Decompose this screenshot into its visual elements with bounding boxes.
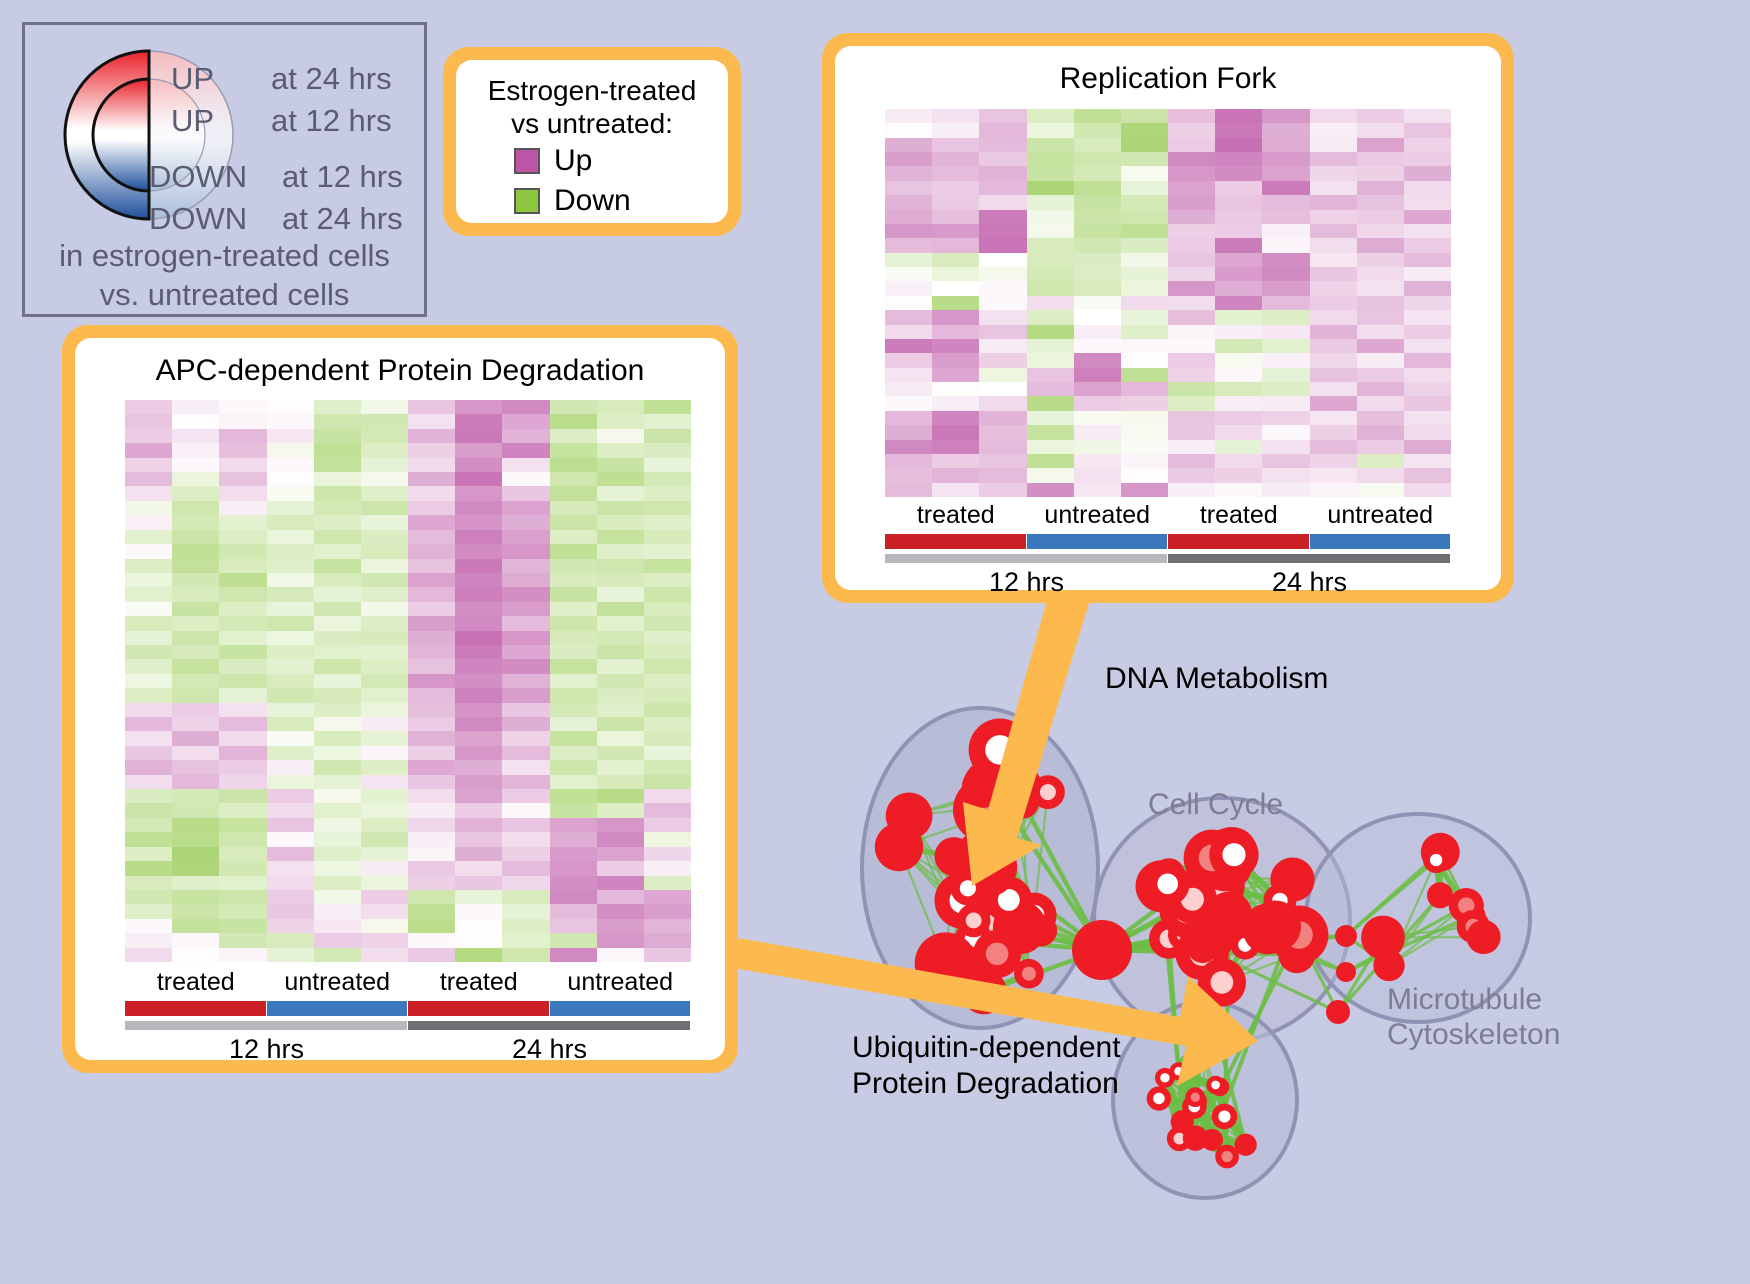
heatmap-cell xyxy=(1404,281,1451,295)
heatmap-cell xyxy=(1404,123,1451,137)
heatmap-cell xyxy=(1404,454,1451,468)
heatmap-cell xyxy=(172,443,219,457)
heatmap-cell xyxy=(502,429,549,443)
heatmap-cell xyxy=(1357,238,1404,252)
sample-group-bar xyxy=(550,1001,691,1016)
heatmap-cell xyxy=(1357,353,1404,367)
heatmap-cell xyxy=(219,876,266,890)
network-node[interactable] xyxy=(951,871,985,905)
heatmap-cell xyxy=(219,832,266,846)
heatmap-cell xyxy=(125,458,172,472)
heatmap-cell xyxy=(1121,411,1168,425)
heatmap-cell xyxy=(361,602,408,616)
heatmap-cell xyxy=(172,559,219,573)
heatmap-cell xyxy=(1215,267,1262,281)
heatmap-cell xyxy=(125,890,172,904)
heatmap-cell xyxy=(455,746,502,760)
heatmap-cell xyxy=(597,890,644,904)
network-node[interactable] xyxy=(1072,920,1132,980)
network-node[interactable] xyxy=(1206,892,1252,938)
heatmap-cell xyxy=(267,616,314,630)
heatmap-cell xyxy=(1074,468,1121,482)
heatmap-cell xyxy=(1168,195,1215,209)
heatmap-cell xyxy=(1215,396,1262,410)
heatmap-cell xyxy=(597,486,644,500)
heatmap-cell xyxy=(267,919,314,933)
network-node[interactable] xyxy=(1335,925,1357,947)
heatmap-cell xyxy=(1215,440,1262,454)
sample-group-label: treated xyxy=(917,501,995,530)
heatmap-cell xyxy=(932,483,979,497)
heatmap-cell xyxy=(219,414,266,428)
heatmap-cell xyxy=(219,429,266,443)
heatmap-cell xyxy=(1168,210,1215,224)
heatmap-cell xyxy=(408,501,455,515)
heatmap-cell xyxy=(502,458,549,472)
heatmap-cell xyxy=(644,818,691,832)
network-node[interactable] xyxy=(1336,962,1356,982)
heatmap-cell xyxy=(172,472,219,486)
heatmap-cell xyxy=(502,530,549,544)
heatmap-cell xyxy=(932,238,979,252)
heatmap-cell xyxy=(1215,166,1262,180)
heatmap-cell xyxy=(267,631,314,645)
heatmap-cell xyxy=(361,659,408,673)
heatmap-cell xyxy=(1215,353,1262,367)
heatmap-cell xyxy=(1310,411,1357,425)
heatmap-cell xyxy=(267,688,314,702)
heatmap-cell xyxy=(502,443,549,457)
heatmap-cell xyxy=(267,876,314,890)
heatmap-cell xyxy=(408,948,455,962)
heatmap-cell xyxy=(125,818,172,832)
heatmap-cell xyxy=(502,659,549,673)
heatmap-cell xyxy=(408,631,455,645)
heatmap-cell xyxy=(597,429,644,443)
heatmap-cell xyxy=(1168,238,1215,252)
heatmap-cell xyxy=(1404,411,1451,425)
heatmap-cell xyxy=(408,847,455,861)
heatmap-cell xyxy=(1310,454,1357,468)
heatmap-cell xyxy=(1310,267,1357,281)
timepoint-bar xyxy=(885,554,1167,563)
key-row-1-value: UP xyxy=(171,103,214,139)
heatmap-cell xyxy=(125,948,172,962)
network-node[interactable] xyxy=(1209,830,1258,879)
heatmap-cell xyxy=(885,411,932,425)
heatmap-cell xyxy=(1310,483,1357,497)
heatmap-cell xyxy=(267,530,314,544)
heatmap-cell xyxy=(455,775,502,789)
network-node[interactable] xyxy=(1212,1104,1238,1130)
network-node[interactable] xyxy=(973,930,1021,978)
heatmap-cell xyxy=(408,746,455,760)
heatmap-cell xyxy=(550,847,597,861)
network-node[interactable] xyxy=(1206,1076,1224,1094)
heatmap-cell xyxy=(125,544,172,558)
heatmap-cell xyxy=(932,253,979,267)
heatmap-cell xyxy=(1262,368,1309,382)
heatmap-cell xyxy=(885,468,932,482)
heatmap-cell xyxy=(219,645,266,659)
heatmap-cell xyxy=(597,803,644,817)
network-node[interactable] xyxy=(1189,1031,1212,1054)
heatmap-cell xyxy=(172,544,219,558)
heatmap-cell xyxy=(502,515,549,529)
heatmap-cell xyxy=(1074,483,1121,497)
heatmap-cell xyxy=(597,760,644,774)
heatmap-cell xyxy=(219,933,266,947)
heatmap-cell xyxy=(550,515,597,529)
heatmap-cell xyxy=(932,166,979,180)
heatmap-cell xyxy=(932,425,979,439)
heatmap-cell xyxy=(1121,425,1168,439)
heatmap-cell xyxy=(314,544,361,558)
heatmap-cell xyxy=(1310,396,1357,410)
heatmap-cell xyxy=(979,411,1026,425)
network-node[interactable] xyxy=(1373,950,1404,981)
heatmap-cell xyxy=(314,933,361,947)
heatmap-cell xyxy=(361,904,408,918)
heatmap-cell xyxy=(1310,468,1357,482)
heatmap-cell xyxy=(267,515,314,529)
heatmap-cell xyxy=(408,659,455,673)
heatmap-cell xyxy=(1262,238,1309,252)
heatmap-cell xyxy=(644,414,691,428)
heatmap-cell xyxy=(125,876,172,890)
heatmap-cell xyxy=(125,904,172,918)
heatmap-cell xyxy=(1357,440,1404,454)
heatmap-cell xyxy=(885,425,932,439)
heatmap-cell xyxy=(455,472,502,486)
heatmap-cell xyxy=(932,310,979,324)
network-node[interactable] xyxy=(1031,775,1065,809)
heatmap-cell xyxy=(1262,454,1309,468)
heatmap-cell xyxy=(1027,267,1074,281)
heatmap-cell xyxy=(1357,310,1404,324)
heatmap-cell xyxy=(172,688,219,702)
heatmap-cell xyxy=(455,703,502,717)
heatmap-cell xyxy=(408,573,455,587)
heatmap-cell xyxy=(267,602,314,616)
heatmap-cell xyxy=(361,486,408,500)
heatmap-cell xyxy=(1310,166,1357,180)
network-node[interactable] xyxy=(1147,1086,1171,1110)
heatmap-cell xyxy=(361,890,408,904)
heatmap-cell xyxy=(455,559,502,573)
heatmap-cell xyxy=(885,267,932,281)
heatmap-cell xyxy=(1027,339,1074,353)
network-node[interactable] xyxy=(1183,1126,1208,1151)
network-node[interactable] xyxy=(1326,1000,1350,1024)
legend-item-down: Down xyxy=(514,184,631,218)
network-node[interactable] xyxy=(1466,920,1500,954)
heatmap-cell xyxy=(172,818,219,832)
heatmap-cell xyxy=(597,659,644,673)
heatmap-cell xyxy=(455,876,502,890)
replication-fork-heatmap xyxy=(885,109,1451,497)
heatmap-cell xyxy=(267,559,314,573)
heatmap-cell xyxy=(455,544,502,558)
heatmap-cell xyxy=(885,396,932,410)
heatmap-cell xyxy=(361,559,408,573)
label-microtubule-line1: Microtubule xyxy=(1387,983,1560,1018)
heatmap-cell xyxy=(1215,152,1262,166)
heatmap-cell xyxy=(267,803,314,817)
heatmap-cell xyxy=(314,775,361,789)
heatmap-cell xyxy=(455,486,502,500)
network-node[interactable] xyxy=(1423,847,1449,873)
heatmap-cell xyxy=(1121,267,1168,281)
heatmap-cell xyxy=(979,296,1026,310)
heatmap-cell xyxy=(885,339,932,353)
heatmap-cell xyxy=(1168,339,1215,353)
heatmap-cell xyxy=(314,948,361,962)
network-node[interactable] xyxy=(1155,1068,1175,1088)
heatmap-cell xyxy=(125,659,172,673)
heatmap-cell xyxy=(455,803,502,817)
heatmap-cell xyxy=(502,559,549,573)
heatmap-cell xyxy=(408,717,455,731)
heatmap-cell xyxy=(502,544,549,558)
label-dna-metabolism: DNA Metabolism xyxy=(1105,662,1328,696)
heatmap-cell xyxy=(408,832,455,846)
heatmap-cell xyxy=(408,616,455,630)
sample-group-label: treated xyxy=(1200,501,1278,530)
heatmap-cell xyxy=(502,933,549,947)
heatmap-cell xyxy=(172,717,219,731)
heatmap-cell xyxy=(644,775,691,789)
heatmap-cell xyxy=(314,674,361,688)
heatmap-cell xyxy=(1168,224,1215,238)
heatmap-cell xyxy=(1027,138,1074,152)
network-node[interactable] xyxy=(1025,914,1057,946)
label-ubiquitin-line2: Protein Degradation xyxy=(852,1066,1121,1102)
heatmap-cell xyxy=(172,789,219,803)
heatmap-cell xyxy=(361,703,408,717)
heatmap-cell xyxy=(1262,382,1309,396)
heatmap-cell xyxy=(885,440,932,454)
heatmap-cell xyxy=(1074,382,1121,396)
heatmap-cell xyxy=(361,443,408,457)
heatmap-cell xyxy=(644,645,691,659)
heatmap-cell xyxy=(455,688,502,702)
heatmap-cell xyxy=(455,414,502,428)
heatmap-cell xyxy=(1027,411,1074,425)
network-node[interactable] xyxy=(969,719,1032,782)
heatmap-cell xyxy=(125,645,172,659)
heatmap-cell xyxy=(1404,166,1451,180)
heatmap-cell xyxy=(979,396,1026,410)
heatmap-cell xyxy=(314,904,361,918)
heatmap-cell xyxy=(644,803,691,817)
heatmap-cell xyxy=(455,616,502,630)
heatmap-cell xyxy=(267,544,314,558)
heatmap-cell xyxy=(219,472,266,486)
heatmap-cell xyxy=(644,400,691,414)
heatmap-cell xyxy=(502,717,549,731)
heatmap-cell xyxy=(932,195,979,209)
heatmap-cell xyxy=(1027,468,1074,482)
heatmap-cell xyxy=(314,530,361,544)
heatmap-cell xyxy=(1310,152,1357,166)
heatmap-cell xyxy=(267,501,314,515)
heatmap-cell xyxy=(1027,454,1074,468)
heatmap-cell xyxy=(314,587,361,601)
heatmap-cell xyxy=(502,948,549,962)
heatmap-cell xyxy=(1121,310,1168,324)
network-node[interactable] xyxy=(915,932,977,994)
heatmap-cell xyxy=(502,904,549,918)
heatmap-cell xyxy=(314,832,361,846)
heatmap-cell xyxy=(172,515,219,529)
heatmap-cell xyxy=(1215,368,1262,382)
heatmap-cell xyxy=(267,861,314,875)
heatmap-cell xyxy=(1074,267,1121,281)
heatmap-cell xyxy=(597,847,644,861)
heatmap-cell xyxy=(979,152,1026,166)
heatmap-cell xyxy=(1074,425,1121,439)
heatmap-cell xyxy=(644,602,691,616)
heatmap-cell xyxy=(1404,195,1451,209)
heatmap-cell xyxy=(932,224,979,238)
heatmap-cell xyxy=(408,645,455,659)
network-node[interactable] xyxy=(957,904,991,938)
heatmap-cell xyxy=(1310,325,1357,339)
heatmap-cell xyxy=(597,703,644,717)
heatmap-cell xyxy=(932,325,979,339)
heatmap-cell xyxy=(408,789,455,803)
heatmap-cell xyxy=(314,400,361,414)
heatmap-cell xyxy=(267,731,314,745)
heatmap-cell xyxy=(361,573,408,587)
heatmap-cell xyxy=(125,515,172,529)
network-node[interactable] xyxy=(1215,1145,1239,1169)
heatmap-cell xyxy=(408,904,455,918)
heatmap-cell xyxy=(361,818,408,832)
heatmap-cell xyxy=(1262,353,1309,367)
network-node[interactable] xyxy=(1146,862,1190,906)
heatmap-cell xyxy=(267,760,314,774)
heatmap-cell xyxy=(502,501,549,515)
heatmap-cell xyxy=(267,789,314,803)
heatmap-cell xyxy=(550,890,597,904)
heatmap-cell xyxy=(1262,440,1309,454)
heatmap-cell xyxy=(125,631,172,645)
heatmap-cell xyxy=(314,458,361,472)
heatmap-cell xyxy=(550,443,597,457)
heatmap-cell xyxy=(979,123,1026,137)
heatmap-cell xyxy=(1310,195,1357,209)
heatmap-cell xyxy=(1074,210,1121,224)
heatmap-cell xyxy=(644,919,691,933)
heatmap-cell xyxy=(455,948,502,962)
heatmap-cell xyxy=(361,674,408,688)
heatmap-cell xyxy=(1121,382,1168,396)
heatmap-cell xyxy=(125,803,172,817)
legend-title-line2: vs untreated: xyxy=(456,107,728,140)
heatmap-cell xyxy=(1404,339,1451,353)
heatmap-cell xyxy=(125,731,172,745)
heatmap-cell xyxy=(1121,440,1168,454)
timepoint-label: 24 hrs xyxy=(512,1034,587,1065)
heatmap-cell xyxy=(1168,138,1215,152)
heatmap-cell xyxy=(1121,138,1168,152)
heatmap-cell xyxy=(979,195,1026,209)
timepoint-bar xyxy=(125,1021,407,1030)
heatmap-cell xyxy=(125,717,172,731)
heatmap-cell xyxy=(314,703,361,717)
heatmap-cell xyxy=(1027,310,1074,324)
heatmap-cell xyxy=(219,530,266,544)
network-node[interactable] xyxy=(1427,882,1453,908)
heatmap-cell xyxy=(1121,195,1168,209)
heatmap-cell xyxy=(597,458,644,472)
heatmap-cell xyxy=(502,573,549,587)
heatmap-cell xyxy=(502,703,549,717)
network-node[interactable] xyxy=(886,793,933,840)
heatmap-cell xyxy=(219,573,266,587)
heatmap-cell xyxy=(1262,109,1309,123)
heatmap-cell xyxy=(1121,353,1168,367)
heatmap-cell xyxy=(885,310,932,324)
heatmap-cell xyxy=(932,123,979,137)
heatmap-cell xyxy=(1168,368,1215,382)
heatmap-cell xyxy=(219,559,266,573)
heatmap-cell xyxy=(125,530,172,544)
heatmap-cell xyxy=(1310,296,1357,310)
heatmap-cell xyxy=(1357,296,1404,310)
heatmap-cell xyxy=(1404,425,1451,439)
heatmap-cell xyxy=(125,674,172,688)
heatmap-cell xyxy=(408,530,455,544)
heatmap-cell xyxy=(550,775,597,789)
heatmap-cell xyxy=(1357,109,1404,123)
heatmap-cell xyxy=(267,832,314,846)
heatmap-cell xyxy=(1215,454,1262,468)
heatmap-cell xyxy=(644,861,691,875)
heatmap-cell xyxy=(172,501,219,515)
heatmap-cell xyxy=(267,890,314,904)
heatmap-cell xyxy=(1357,382,1404,396)
heatmap-cell xyxy=(550,876,597,890)
heatmap-cell xyxy=(885,353,932,367)
heatmap-cell xyxy=(550,688,597,702)
heatmap-cell xyxy=(408,400,455,414)
heatmap-cell xyxy=(1074,396,1121,410)
heatmap-cell xyxy=(644,616,691,630)
heatmap-cell xyxy=(644,847,691,861)
heatmap-cell xyxy=(408,472,455,486)
heatmap-cell xyxy=(455,760,502,774)
heatmap-cell xyxy=(361,832,408,846)
sample-group-bar xyxy=(267,1001,408,1016)
heatmap-cell xyxy=(125,501,172,515)
heatmap-cell xyxy=(1074,353,1121,367)
heatmap-cell xyxy=(1310,138,1357,152)
heatmap-cell xyxy=(550,674,597,688)
network-node[interactable] xyxy=(1185,1087,1205,1107)
heatmap-cell xyxy=(1168,411,1215,425)
heatmap-cell xyxy=(550,659,597,673)
heatmap-cell xyxy=(1310,123,1357,137)
heatmap-cell xyxy=(314,501,361,515)
heatmap-cell xyxy=(1404,368,1451,382)
heatmap-cell xyxy=(1215,195,1262,209)
network-node[interactable] xyxy=(1198,958,1246,1006)
heatmap-cell xyxy=(1074,152,1121,166)
heatmap-cell xyxy=(361,760,408,774)
